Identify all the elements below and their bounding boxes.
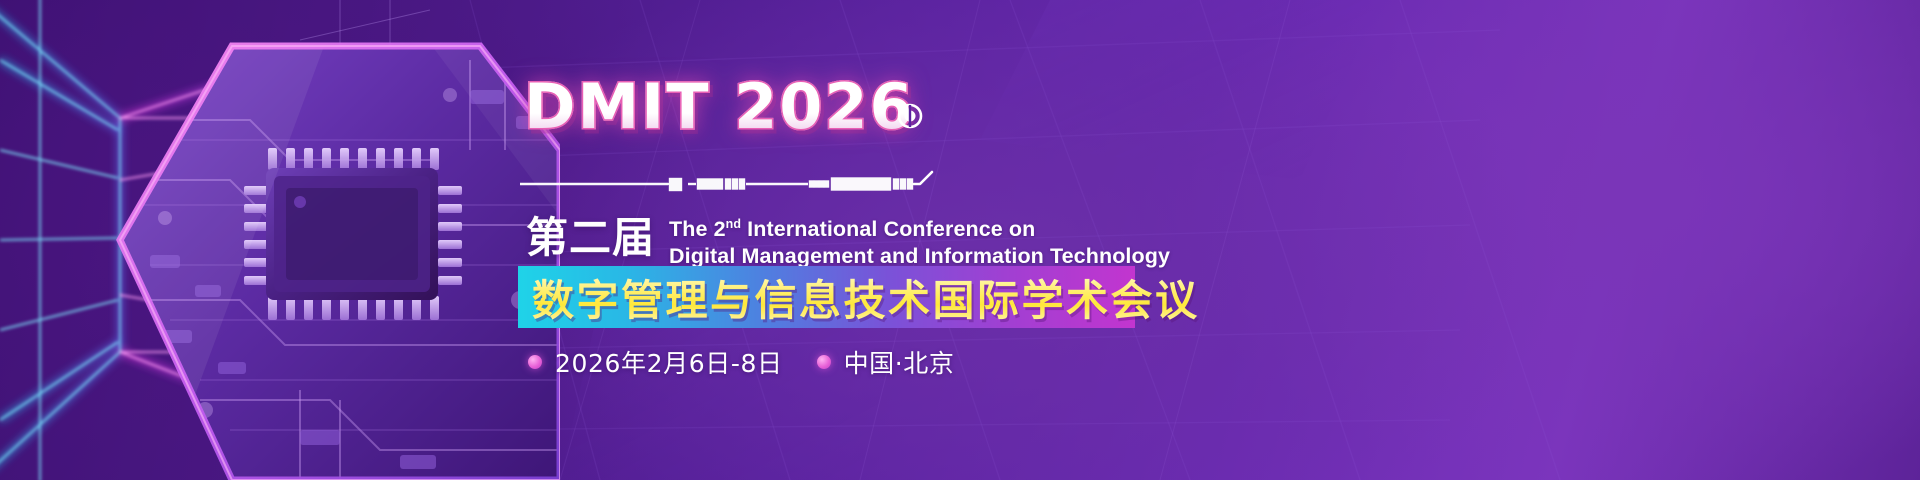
chinese-subtitle-bar: 数字管理与信息技术国际学术会议 [518, 266, 1135, 328]
emblem-nd-label: ND [399, 154, 437, 180]
hexagon-circuit-photo [0, 0, 560, 480]
english-title-line1-suffix: International Conference on [741, 217, 1035, 241]
english-title-line1: The 2nd International Conference on [669, 216, 1170, 243]
bullet-dot-icon [528, 355, 542, 369]
conference-banner: ND [0, 0, 1920, 480]
bullet-dot-icon [817, 355, 831, 369]
conference-acronym-title: DMIT 2026 [524, 76, 915, 138]
english-title-line1-prefix: The 2 [669, 217, 726, 241]
circuit-divider-line [520, 170, 940, 214]
event-location: 中国·北京 [844, 344, 955, 380]
chinese-subtitle-text: 数字管理与信息技术国际学术会议 [532, 267, 1200, 328]
event-date: 2026年2月6日-8日 [555, 344, 783, 380]
neon-wireframe-tunnel [0, 0, 430, 480]
subtitle-row: 第二届 The 2nd International Conference on … [526, 214, 1170, 270]
english-title-wrap: The 2nd International Conference on Digi… [669, 214, 1170, 270]
english-title-ordinal-sup: nd [726, 217, 741, 231]
chinese-ordinal: 第二届 [526, 214, 655, 261]
banner-text-block: DMIT 2026 DMIT 2026 [520, 62, 1140, 392]
event-meta-row: 2026年2月6日-8日 中国·北京 [528, 344, 955, 380]
event-date-item: 2026年2月6日-8日 [528, 344, 783, 380]
event-location-item: 中国·北京 [817, 344, 955, 380]
